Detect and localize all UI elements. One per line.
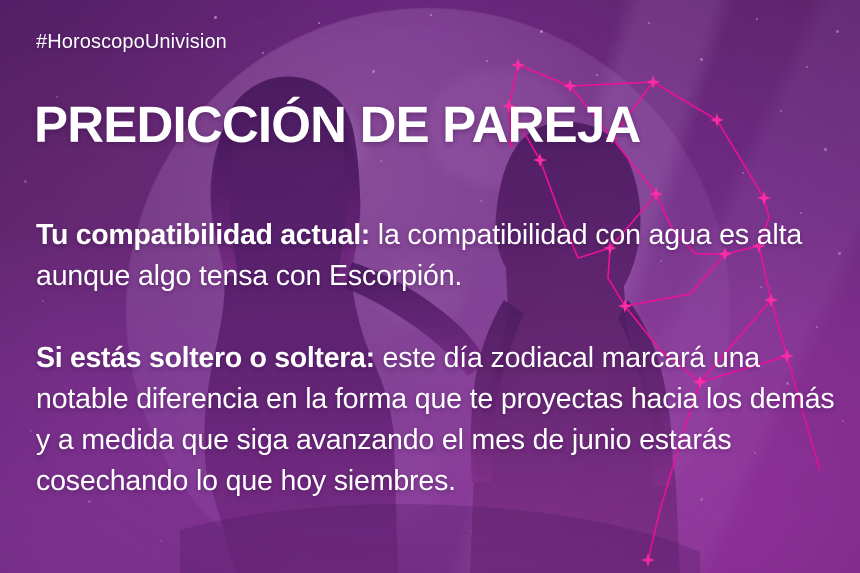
card-content: #HoroscopoUnivision PREDICCIÓN DE PAREJA… — [0, 0, 860, 573]
horoscope-body: Tu compatibilidad actual: la compatibili… — [36, 215, 842, 502]
hashtag-label: #HoroscopoUnivision — [36, 31, 227, 54]
section-soltero: Si estás soltero o soltera: este día zod… — [36, 338, 842, 502]
section-compatibilidad: Tu compatibilidad actual: la compatibili… — [36, 215, 842, 297]
page-title: PREDICCIÓN DE PAREJA — [34, 99, 640, 151]
section-soltero-label: Si estás soltero o soltera: — [36, 342, 375, 374]
section-compatibilidad-label: Tu compatibilidad actual: — [36, 219, 370, 251]
horoscope-card: #HoroscopoUnivision PREDICCIÓN DE PAREJA… — [0, 0, 860, 573]
